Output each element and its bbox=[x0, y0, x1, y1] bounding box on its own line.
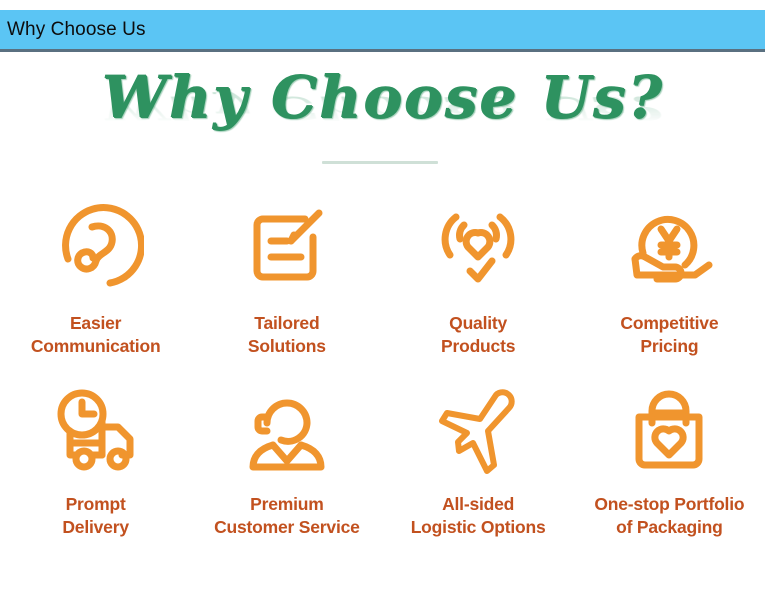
feature-item-one-stop-portfolio-of-packaging[interactable]: One-stop Portfolio of Packaging bbox=[574, 375, 765, 565]
feature-item-easier-communication[interactable]: Easier Communication bbox=[0, 190, 191, 375]
airplane-icon bbox=[423, 375, 533, 483]
feature-label: Quality Products bbox=[441, 312, 515, 358]
heart-signal-check-icon bbox=[423, 190, 533, 300]
shopping-bag-heart-icon bbox=[614, 375, 724, 483]
heading-reflection: Why Choose Us? bbox=[0, 92, 765, 124]
feature-item-tailored-solutions[interactable]: Tailored Solutions bbox=[191, 190, 382, 375]
heading-wordart: Why Choose Us? Why Choose Us? bbox=[0, 58, 765, 168]
feature-item-all-sided-logistic-options[interactable]: All-sided Logistic Options bbox=[383, 375, 574, 565]
heading-banner: Why Choose Us? Why Choose Us? bbox=[0, 58, 765, 168]
feature-label: One-stop Portfolio of Packaging bbox=[594, 493, 744, 539]
heading-divider bbox=[322, 161, 438, 164]
feature-item-prompt-delivery[interactable]: Prompt Delivery bbox=[0, 375, 191, 565]
feature-label: All-sided Logistic Options bbox=[411, 493, 546, 539]
window-titlebar: Why Choose Us bbox=[0, 10, 765, 52]
feature-label: Premium Customer Service bbox=[214, 493, 360, 539]
headset-agent-icon bbox=[232, 375, 342, 483]
feature-item-quality-products[interactable]: Quality Products bbox=[383, 190, 574, 375]
feature-label: Competitive Pricing bbox=[620, 312, 718, 358]
hand-holding-yen-coin-icon bbox=[614, 190, 724, 300]
feature-label: Easier Communication bbox=[31, 312, 161, 358]
feature-item-premium-customer-service[interactable]: Premium Customer Service bbox=[191, 375, 382, 565]
delivery-truck-clock-icon bbox=[41, 375, 151, 483]
ear-in-circle-icon bbox=[41, 190, 151, 300]
feature-label: Prompt Delivery bbox=[62, 493, 129, 539]
page-title: Why Choose Us bbox=[0, 19, 146, 41]
document-pencil-icon bbox=[232, 190, 342, 300]
feature-label: Tailored Solutions bbox=[248, 312, 326, 358]
feature-grid: Easier Communication Tailored Solutions bbox=[0, 190, 765, 565]
feature-item-competitive-pricing[interactable]: Competitive Pricing bbox=[574, 190, 765, 375]
